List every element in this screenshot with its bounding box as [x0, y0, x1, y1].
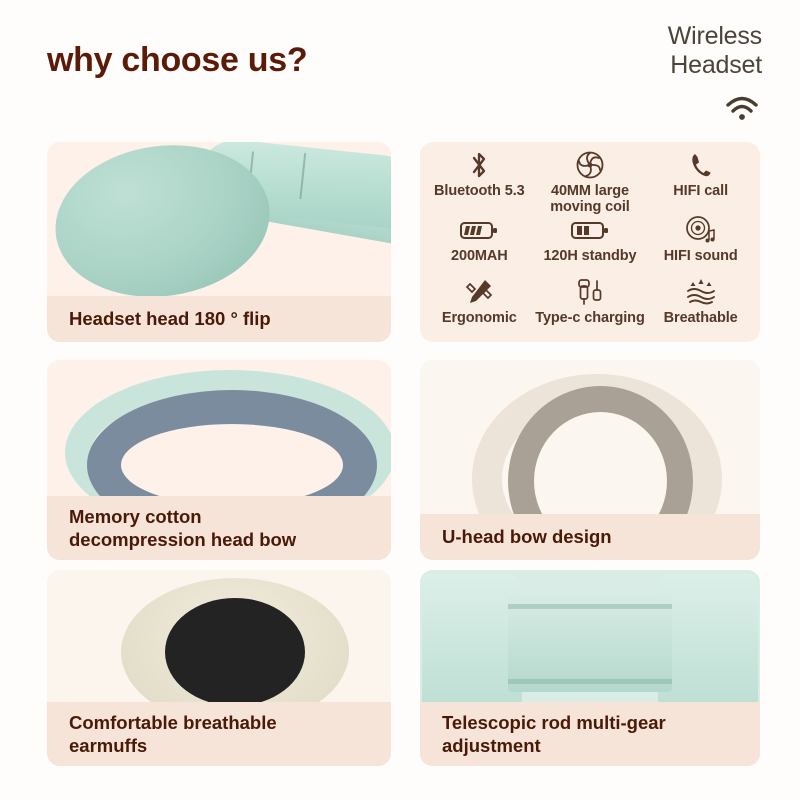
rod-housing-left	[422, 574, 522, 714]
feature-type-c[interactable]: Type-c charging	[535, 277, 646, 339]
card-memory-cotton[interactable]: Memory cotton decompression head bow	[47, 360, 391, 560]
breathable-airflow-icon	[684, 277, 718, 307]
product-infographic: why choose us? Wireless Headset	[0, 0, 800, 800]
caption-line-1: Memory cotton	[69, 506, 202, 527]
wifi-icon	[722, 92, 762, 127]
feature-label: Ergonomic	[442, 310, 517, 326]
feature-label: Bluetooth 5.3	[434, 183, 525, 199]
card-headset-flip[interactable]: Headset head 180 ° flip	[47, 142, 391, 342]
battery-full-icon	[459, 215, 499, 245]
card-caption: Headset head 180 ° flip	[47, 296, 391, 342]
caption-line-2: earmuffs	[69, 735, 147, 756]
card-caption: Telescopic rod multi-gear adjustment	[420, 702, 760, 766]
card-caption: Memory cotton decompression head bow	[47, 496, 391, 560]
caption-line-2: adjustment	[442, 735, 541, 756]
feature-bluetooth[interactable]: Bluetooth 5.3	[424, 150, 535, 215]
card-earmuffs[interactable]: Comfortable breathable earmuffs	[47, 570, 391, 766]
feature-driver-coil[interactable]: 40MM largemoving coil	[535, 150, 646, 215]
brand-block: Wireless Headset	[582, 22, 762, 127]
feature-label: HIFI call	[673, 183, 728, 199]
feature-label: HIFI sound	[664, 248, 738, 264]
feature-label: 200MAH	[451, 248, 508, 264]
rod-housing-right	[658, 574, 758, 714]
feature-hifi-call[interactable]: HIFI call	[645, 150, 756, 215]
brand-line-wireless: Wireless	[582, 22, 762, 51]
feature-hifi-sound[interactable]: HIFI sound	[645, 215, 756, 277]
card-caption: Comfortable breathable earmuffs	[47, 702, 391, 766]
caption-line-1: Telescopic rod multi-gear	[442, 712, 666, 733]
caption-line-1: Comfortable breathable	[69, 712, 277, 733]
earmuff-inner-opening	[165, 598, 305, 706]
usb-type-c-icon	[573, 277, 607, 307]
card-telescopic-rod[interactable]: Telescopic rod multi-gear adjustment	[420, 570, 760, 766]
feature-breathable[interactable]: Breathable	[645, 277, 756, 339]
caption-line-2: decompression head bow	[69, 529, 296, 550]
feature-standby[interactable]: 120H standby	[535, 215, 646, 277]
card-caption: U-head bow design	[420, 514, 760, 560]
ergonomic-pencil-icon	[464, 277, 494, 307]
card-u-head-bow[interactable]: U-head bow design	[420, 360, 760, 560]
feature-ergonomic[interactable]: Ergonomic	[424, 277, 535, 339]
phone-call-icon	[688, 150, 714, 180]
feature-battery-capacity[interactable]: 200MAH	[424, 215, 535, 277]
feature-label: 40MM largemoving coil	[550, 183, 629, 215]
feature-label: 120H standby	[543, 248, 636, 264]
telescopic-slider	[508, 596, 672, 692]
battery-half-icon	[570, 215, 610, 245]
driver-coil-icon	[575, 150, 605, 180]
vinyl-music-icon	[685, 215, 717, 245]
brand-line-headset: Headset	[582, 51, 762, 80]
page-title: why choose us?	[47, 41, 307, 80]
feature-label: Breathable	[664, 310, 738, 326]
feature-spec-panel: Bluetooth 5.3	[420, 142, 760, 342]
feature-label: Type-c charging	[535, 310, 644, 326]
bluetooth-icon	[468, 150, 490, 180]
